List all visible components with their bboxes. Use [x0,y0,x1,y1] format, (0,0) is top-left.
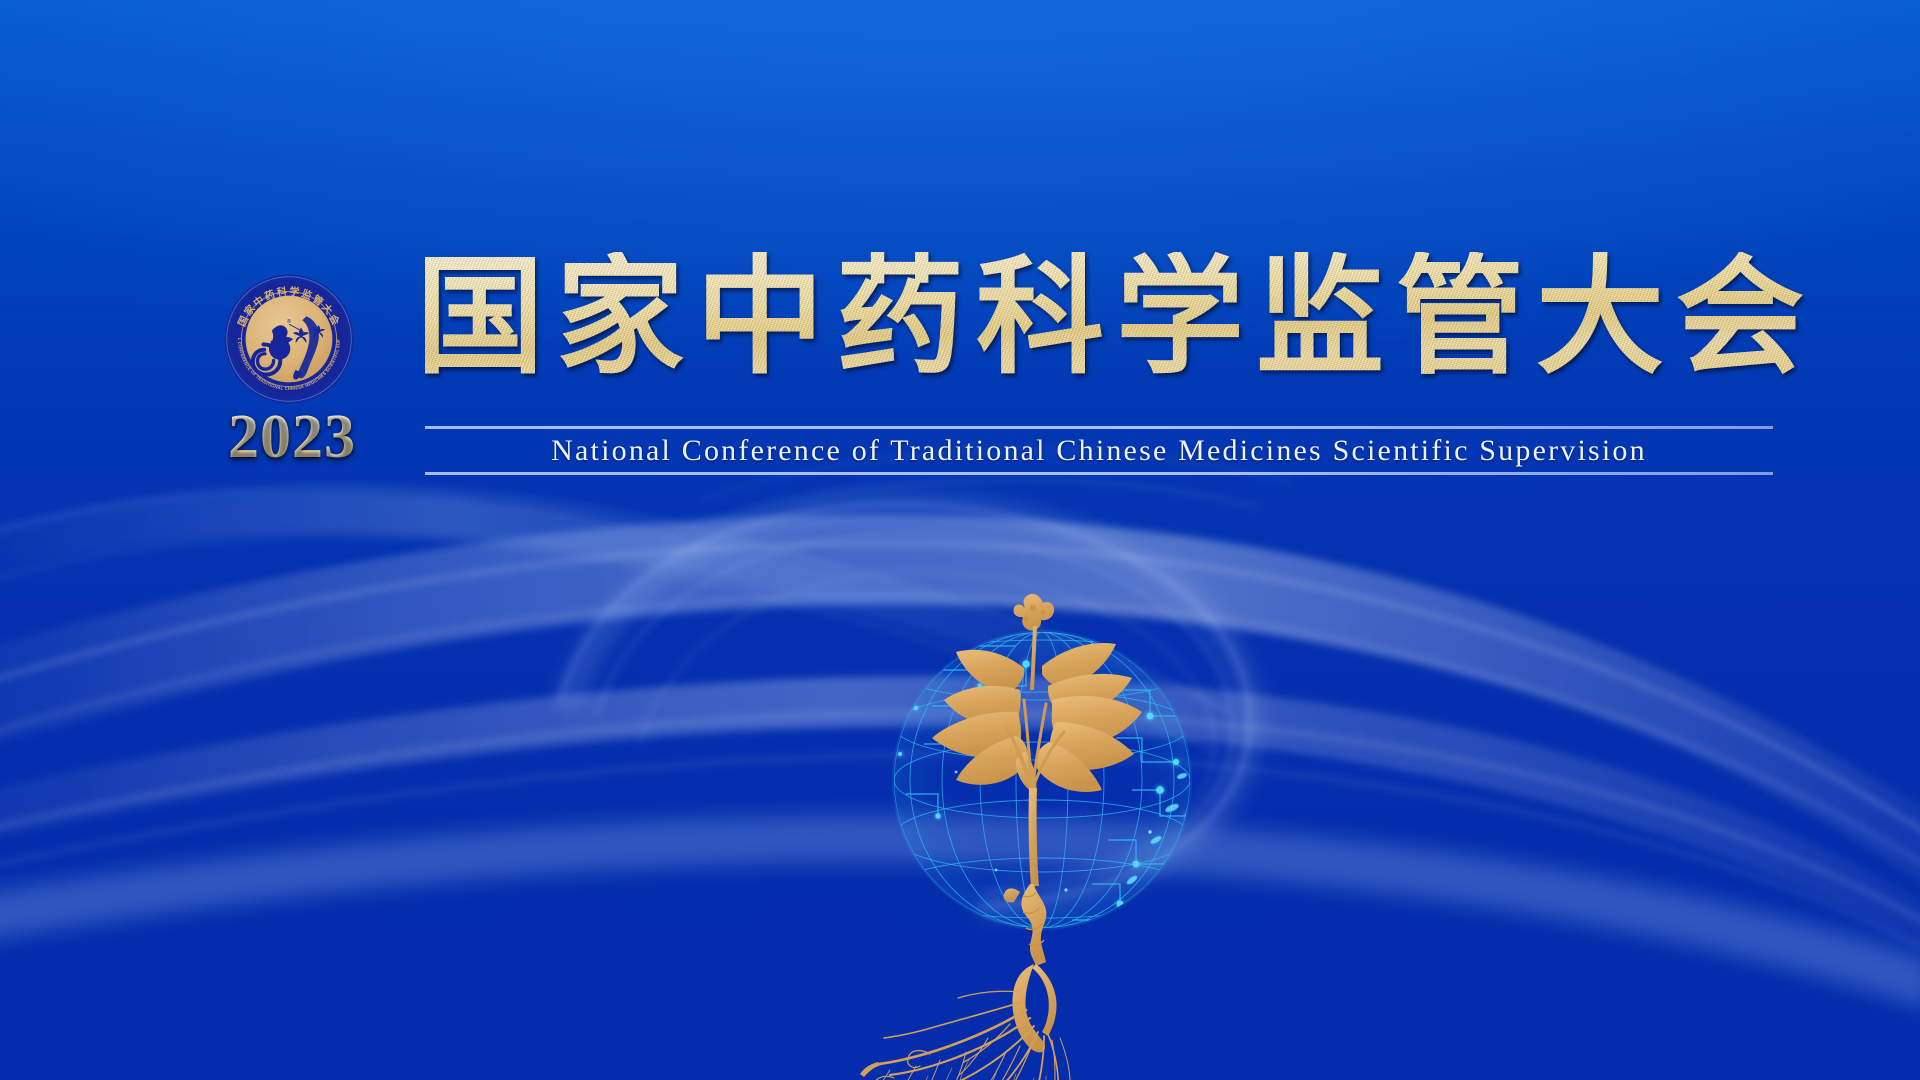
divider-bottom [425,472,1773,475]
banner-header: 国家中药科学监管大会 NATIONAL CONFERENCE OF TRADIT… [0,0,1920,520]
ginseng-globe-artwork [820,540,1250,1070]
subtitle-english: National Conference of Traditional Chine… [425,430,1773,472]
svg-text:®: ® [287,318,291,325]
divider-top [425,426,1773,429]
subtitle-block: National Conference of Traditional Chine… [425,420,1773,482]
conference-banner: 国家中药科学监管大会 NATIONAL CONFERENCE OF TRADIT… [0,0,1920,1080]
page-title: 国家中药科学监管大会 [416,252,1816,383]
conference-seal-icon: 国家中药科学监管大会 NATIONAL CONFERENCE OF TRADIT… [222,272,356,406]
year-label: 2023 [228,406,356,468]
